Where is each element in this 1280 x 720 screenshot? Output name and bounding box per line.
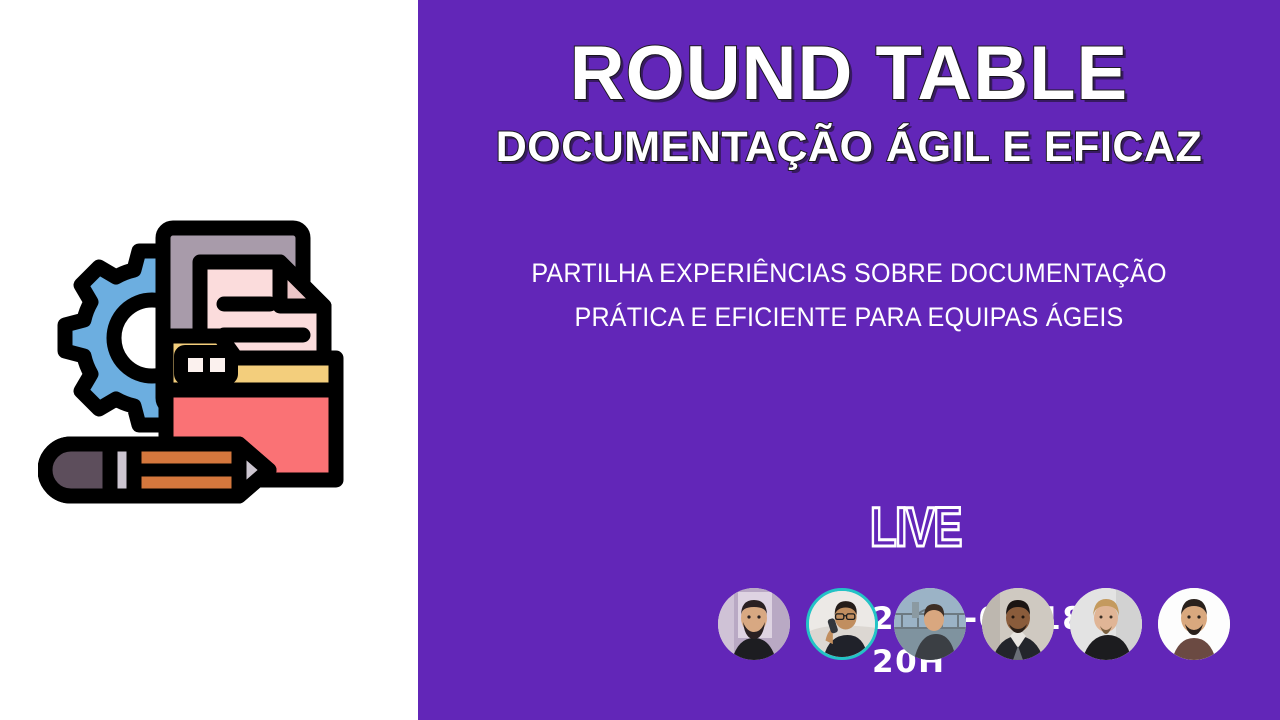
documentation-illustration bbox=[38, 196, 368, 508]
speaker-avatars bbox=[718, 588, 1230, 660]
avatar-speaker-2 bbox=[806, 588, 878, 660]
avatar-speaker-5 bbox=[1070, 588, 1142, 660]
title-block: ROUND TABLE DOCUMENTAÇÃO ÁGIL E EFICAZ bbox=[418, 36, 1280, 169]
folder-label-box-2 bbox=[210, 358, 225, 372]
avatar-speaker-6 bbox=[1158, 588, 1230, 660]
avatar-speaker-4 bbox=[982, 588, 1054, 660]
pencil-eraser bbox=[45, 444, 110, 496]
description-line-1: PARTILHA EXPERIÊNCIAS SOBRE DOCUMENTAÇÃO bbox=[485, 252, 1212, 296]
live-badge: LIVE bbox=[870, 499, 961, 555]
folder-label-box-1 bbox=[188, 358, 203, 372]
description-line-2: PRÁTICA E EFICIENTE PARA EQUIPAS ÁGEIS bbox=[485, 296, 1212, 340]
event-description: PARTILHA EXPERIÊNCIAS SOBRE DOCUMENTAÇÃO… bbox=[418, 252, 1280, 339]
content-panel: ROUND TABLE DOCUMENTAÇÃO ÁGIL E EFICAZ P… bbox=[418, 0, 1280, 720]
page-title: ROUND TABLE bbox=[442, 36, 1256, 112]
event-poster: ROUND TABLE DOCUMENTAÇÃO ÁGIL E EFICAZ P… bbox=[0, 0, 1280, 720]
avatar-speaker-1 bbox=[718, 588, 790, 660]
page-subtitle: DOCUMENTAÇÃO ÁGIL E EFICAZ bbox=[442, 126, 1256, 169]
avatar-speaker-3 bbox=[894, 588, 966, 660]
illustration-panel bbox=[0, 0, 418, 720]
